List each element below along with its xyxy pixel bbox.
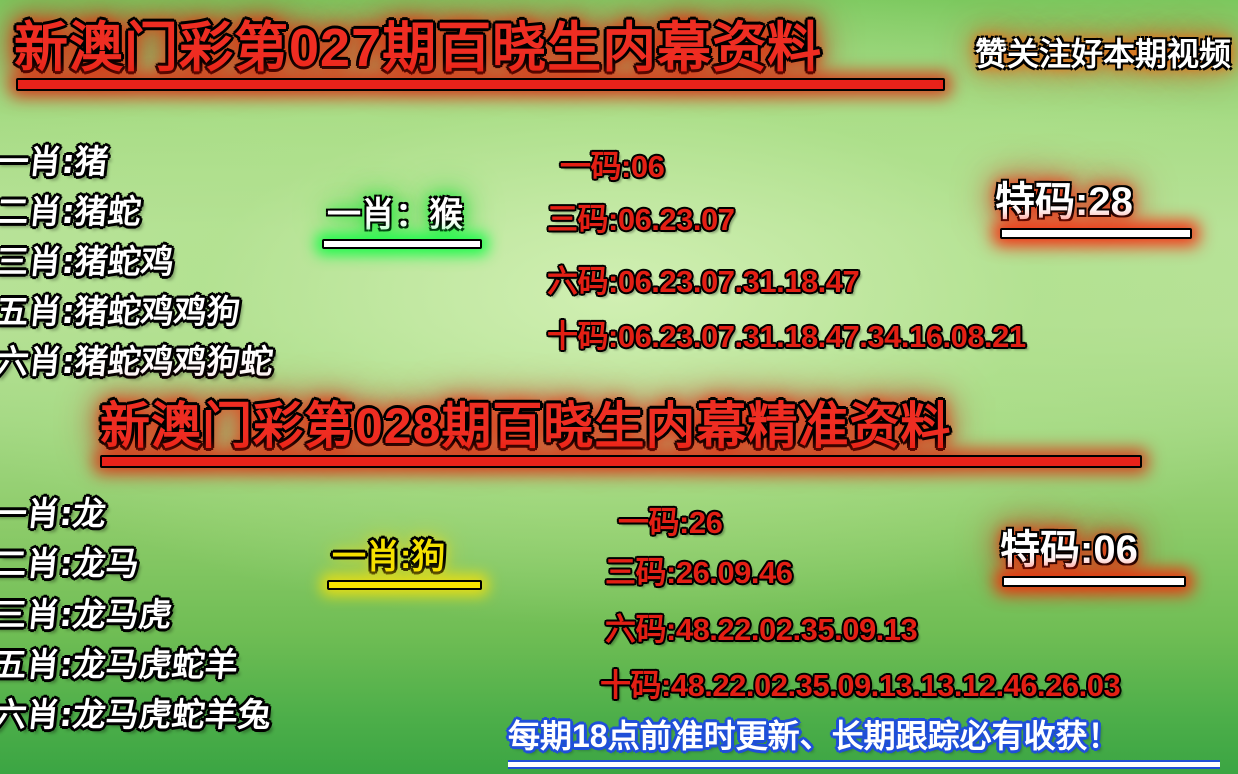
section-2-code-10: 十码:48.22.02.35.09.13.13.12.46.26.03 (600, 660, 1120, 705)
section-1-special-underline (1000, 228, 1192, 239)
section-2-special-underline (1002, 576, 1186, 587)
section-2-highlight-pick: 一肖:狗 (332, 538, 445, 576)
footer-notice: 每期18点前准时更新、长期跟踪必有收获！ (508, 718, 1120, 754)
section-2-zodiac-1: 一肖:龙 (0, 487, 109, 535)
section-2-code-6: 六码:48.22.02.35.09.13 (605, 604, 917, 649)
section-1-code-6: 六码:06.23.07.31.18.47 (547, 256, 859, 301)
section-1-code-3: 三码:06.23.07 (547, 194, 735, 239)
section-1-highlight-pick: 一肖：猴 (327, 196, 463, 234)
section-1-zodiac-6: 六肖:猪蛇鸡鸡狗蛇 (0, 335, 276, 383)
section-2-zodiac-6: 六肖:龙马虎蛇羊兔 (0, 688, 274, 736)
section-2-title: 新澳门彩第028期百晓生内幕精准资料 (100, 398, 951, 454)
section-2-code-1: 一码:26 (618, 497, 722, 542)
section-1-special-code: 特码:28 (995, 180, 1133, 224)
poster-root: 新澳门彩第027期百晓生内幕资料 赞关注好本期视频 一肖:猪 二肖:猪蛇 三肖:… (0, 0, 1238, 774)
section-1-code-1: 一码:06 (560, 141, 664, 186)
section-2-title-underline (100, 455, 1142, 468)
section-1-code-10: 十码:06.23.07.31.18.47.34.16.08.21 (547, 311, 1026, 356)
section-2-zodiac-5: 五肖:龙马虎蛇羊 (0, 638, 241, 686)
section-1-title-underline (16, 78, 945, 91)
section-1-title: 新澳门彩第027期百晓生内幕资料 (14, 18, 822, 78)
footer-underline (508, 760, 1220, 769)
section-1-zodiac-5: 五肖:猪蛇鸡鸡狗 (0, 285, 243, 333)
section-2-special-code: 特码:06 (1000, 528, 1138, 572)
section-1-highlight-underline (322, 239, 482, 249)
section-1-zodiac-2: 二肖:猪蛇 (0, 185, 144, 233)
section-2-highlight-underline (327, 580, 482, 590)
section-2-zodiac-2: 二肖:龙马 (0, 537, 142, 585)
section-1-zodiac-1: 一肖:猪 (0, 135, 111, 183)
section-1-zodiac-3: 三肖:猪蛇鸡 (0, 235, 177, 283)
promo-top-right: 赞关注好本期视频 (975, 36, 1231, 72)
section-2-zodiac-3: 三肖:龙马虎 (0, 588, 175, 636)
section-2-code-3: 三码:26.09.46 (605, 547, 793, 592)
